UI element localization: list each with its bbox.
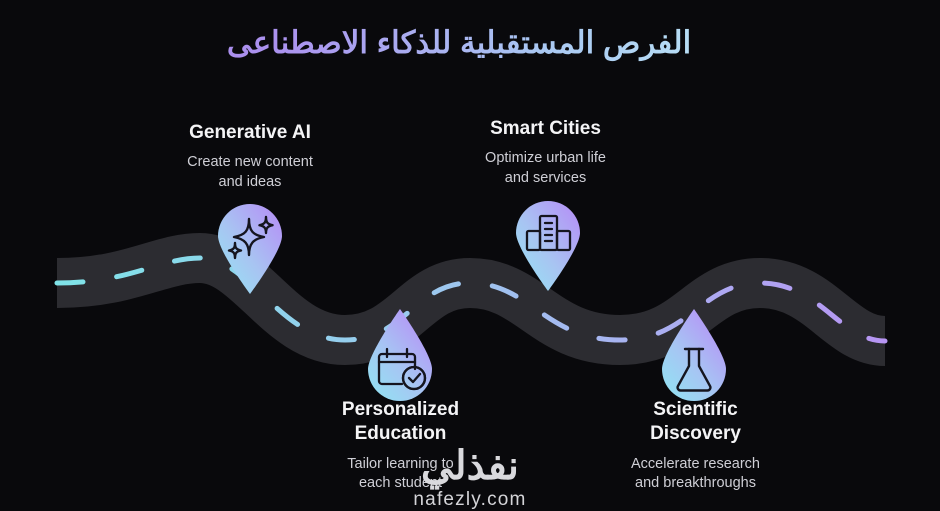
infographic-canvas: الفرص المستقبلية للذكاء الاصطناعى — [0, 0, 940, 511]
pin-scientific-discovery[interactable] — [656, 306, 728, 398]
node-description: Optimize urban life and services — [448, 149, 643, 188]
pin-smart-cities[interactable] — [512, 200, 584, 292]
node-description: Accelerate research and breakthroughs — [598, 455, 793, 494]
label-personalized-education: Personalized Education Tailor learning t… — [303, 398, 498, 493]
label-smart-cities: Smart Cities Optimize urban life and ser… — [448, 117, 643, 188]
node-title: Personalized Education — [303, 398, 498, 447]
pin-personalized-education[interactable] — [362, 306, 434, 398]
label-generative-ai: Generative AI Create new content and ide… — [150, 121, 350, 192]
node-description: Tailor learning to each student — [303, 455, 498, 494]
label-scientific-discovery: Scientific Discovery Accelerate research… — [598, 398, 793, 493]
pin-generative-ai[interactable] — [214, 203, 286, 295]
node-description: Create new content and ideas — [150, 153, 350, 192]
node-title: Generative AI — [150, 121, 350, 145]
node-title: Scientific Discovery — [598, 398, 793, 447]
node-title: Smart Cities — [448, 117, 643, 141]
